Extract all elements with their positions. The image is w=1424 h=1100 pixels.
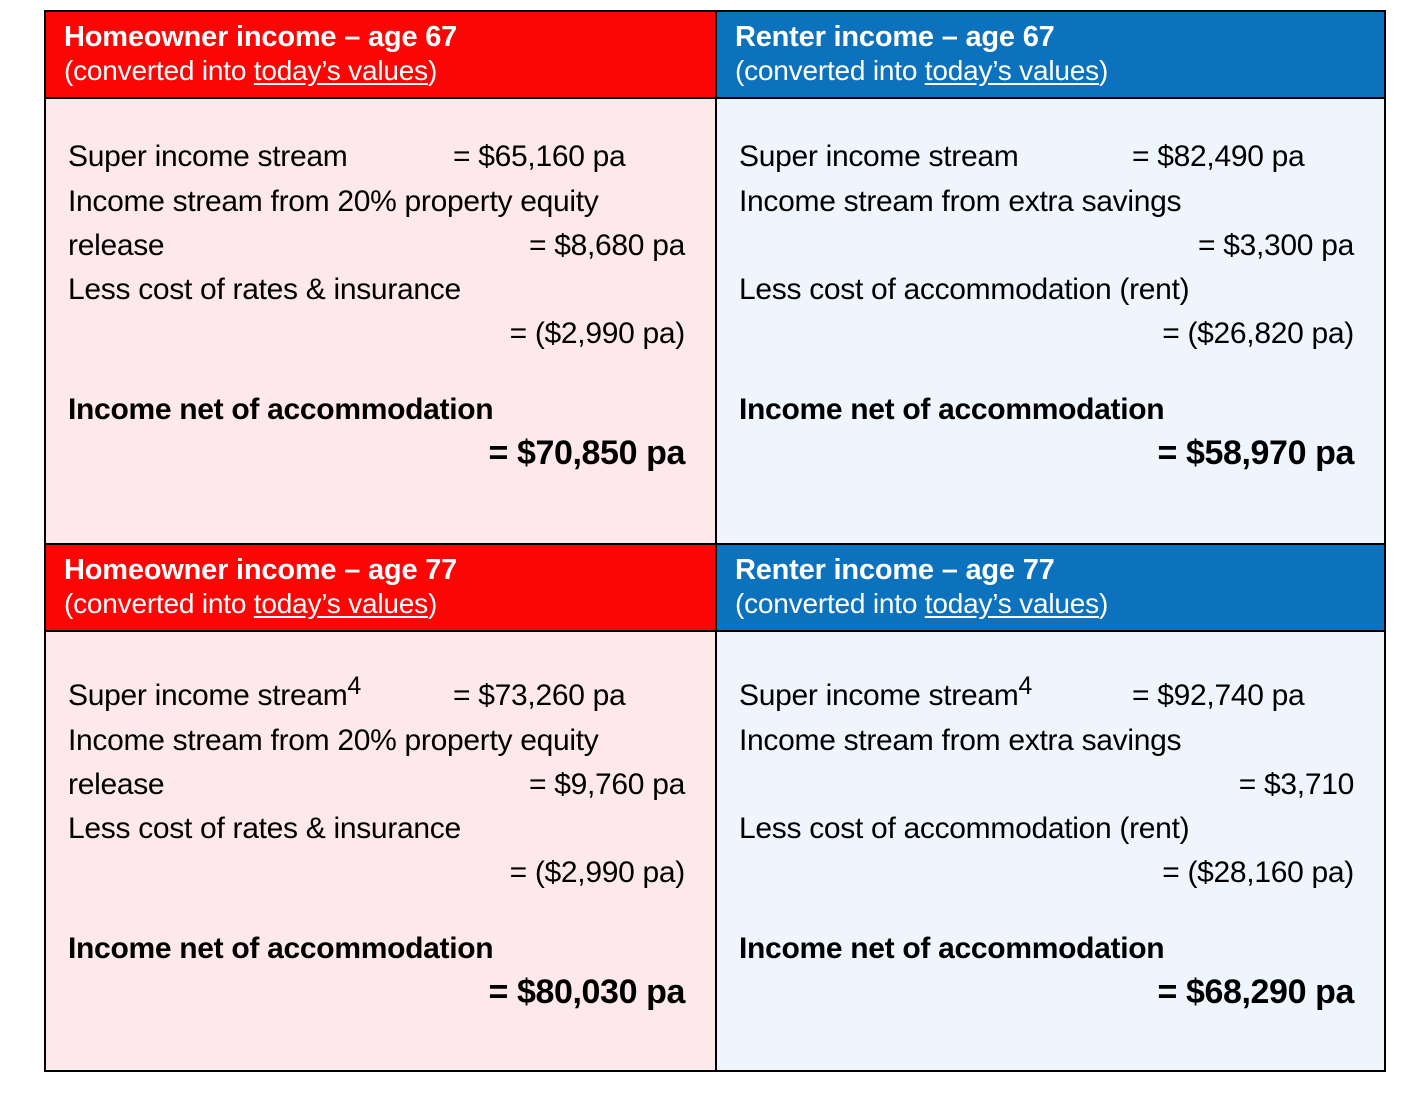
body-renter-age-67: Super income stream = $82,490 pa Income … (717, 99, 1384, 543)
table-row-age-77: Homeowner income – age 77 (converted int… (46, 543, 1384, 1070)
line-item: Super income stream = $65,160 pa (68, 135, 693, 179)
total-amount: = $68,290 pa (739, 968, 1362, 1017)
header-renter-age-77: Renter income – age 77 (converted into t… (717, 545, 1384, 632)
total-amount: = $58,970 pa (739, 429, 1362, 478)
comparison-table: Homeowner income – age 67 (converted int… (44, 10, 1386, 1072)
subtitle-suffix: ) (428, 55, 437, 86)
subtitle-underlined: today’s values (925, 588, 1099, 619)
line-item-amount: = ($2,990 pa) (68, 851, 693, 895)
line-item-amount: = $73,260 pa (453, 674, 685, 718)
line-item-label: Income stream from extra savings (739, 719, 1362, 763)
line-item-amount: = $65,160 pa (453, 135, 685, 179)
header-title: Renter income – age 67 (735, 22, 1366, 53)
line-item-amount: = ($26,820 pa) (739, 312, 1362, 356)
cell-homeowner-age-67: Homeowner income – age 67 (converted int… (46, 12, 715, 543)
header-title: Renter income – age 77 (735, 555, 1366, 586)
body-renter-age-77: Super income stream4 = $92,740 pa Income… (717, 632, 1384, 1070)
header-homeowner-age-67: Homeowner income – age 67 (converted int… (46, 12, 715, 99)
line-item: release = $9,760 pa (68, 763, 693, 807)
subtitle-prefix: (converted into (735, 588, 925, 619)
line-item: release = $8,680 pa (68, 224, 693, 268)
subtitle-suffix: ) (1099, 55, 1108, 86)
line-item-amount: = $3,710 (739, 763, 1362, 807)
line-item-label: Income stream from extra savings (739, 180, 1362, 224)
line-item-label: Income stream from 20% property equity (68, 719, 693, 763)
line-item-amount: = $8,680 pa (529, 224, 685, 268)
line-item-label: Income stream from 20% property equity (68, 180, 693, 224)
cell-renter-age-77: Renter income – age 77 (converted into t… (715, 545, 1384, 1070)
subtitle-suffix: ) (1099, 588, 1108, 619)
header-subtitle: (converted into today’s values) (735, 56, 1366, 86)
footnote-marker: 4 (347, 672, 361, 700)
subtitle-suffix: ) (428, 588, 437, 619)
line-item: Super income stream4 = $92,740 pa (739, 668, 1362, 718)
spacer (68, 895, 693, 929)
spacer (739, 895, 1362, 929)
subtitle-underlined: today’s values (925, 55, 1099, 86)
line-item-amount: = $3,300 pa (739, 224, 1362, 268)
line-item-label-text: Super income stream (739, 679, 1018, 712)
line-item-label: Super income stream (68, 135, 347, 179)
line-item-label: release (68, 763, 164, 807)
cell-renter-age-67: Renter income – age 67 (converted into t… (715, 12, 1384, 543)
line-item-label: Less cost of accommodation (rent) (739, 268, 1362, 312)
subtitle-underlined: today’s values (254, 588, 428, 619)
subtitle-prefix: (converted into (64, 55, 254, 86)
body-homeowner-age-67: Super income stream = $65,160 pa Income … (46, 99, 715, 543)
line-item-label: Less cost of accommodation (rent) (739, 807, 1362, 851)
total-label: Income net of accommodation (739, 929, 1362, 968)
total-label: Income net of accommodation (68, 390, 693, 429)
table-row-age-67: Homeowner income – age 67 (converted int… (46, 12, 1384, 543)
header-subtitle: (converted into today’s values) (64, 589, 697, 619)
line-item-amount: = $92,740 pa (1132, 674, 1354, 718)
subtitle-prefix: (converted into (64, 588, 254, 619)
header-title: Homeowner income – age 67 (64, 22, 697, 53)
line-item-label: release (68, 224, 164, 268)
line-item-amount: = $9,760 pa (529, 763, 685, 807)
spacer (739, 356, 1362, 390)
body-homeowner-age-77: Super income stream4 = $73,260 pa Income… (46, 632, 715, 1070)
subtitle-underlined: today’s values (254, 55, 428, 86)
header-subtitle: (converted into today’s values) (64, 56, 697, 86)
header-title: Homeowner income – age 77 (64, 555, 697, 586)
subtitle-prefix: (converted into (735, 55, 925, 86)
line-item-label: Less cost of rates & insurance (68, 268, 693, 312)
line-item-label: Less cost of rates & insurance (68, 807, 693, 851)
line-item-amount: = ($2,990 pa) (68, 312, 693, 356)
header-homeowner-age-77: Homeowner income – age 77 (converted int… (46, 545, 715, 632)
line-item-label: Super income stream (739, 135, 1018, 179)
total-amount: = $70,850 pa (68, 429, 693, 478)
total-label: Income net of accommodation (68, 929, 693, 968)
line-item-amount: = $82,490 pa (1132, 135, 1354, 179)
total-label: Income net of accommodation (739, 390, 1362, 429)
line-item: Super income stream = $82,490 pa (739, 135, 1362, 179)
line-item-label: Super income stream4 (68, 668, 361, 718)
footnote-marker: 4 (1018, 672, 1032, 700)
cell-homeowner-age-77: Homeowner income – age 77 (converted int… (46, 545, 715, 1070)
header-subtitle: (converted into today’s values) (735, 589, 1366, 619)
line-item-amount: = ($28,160 pa) (739, 851, 1362, 895)
line-item-label: Super income stream4 (739, 668, 1032, 718)
line-item-label-text: Super income stream (68, 679, 347, 712)
total-amount: = $80,030 pa (68, 968, 693, 1017)
spacer (68, 356, 693, 390)
header-renter-age-67: Renter income – age 67 (converted into t… (717, 12, 1384, 99)
line-item: Super income stream4 = $73,260 pa (68, 668, 693, 718)
